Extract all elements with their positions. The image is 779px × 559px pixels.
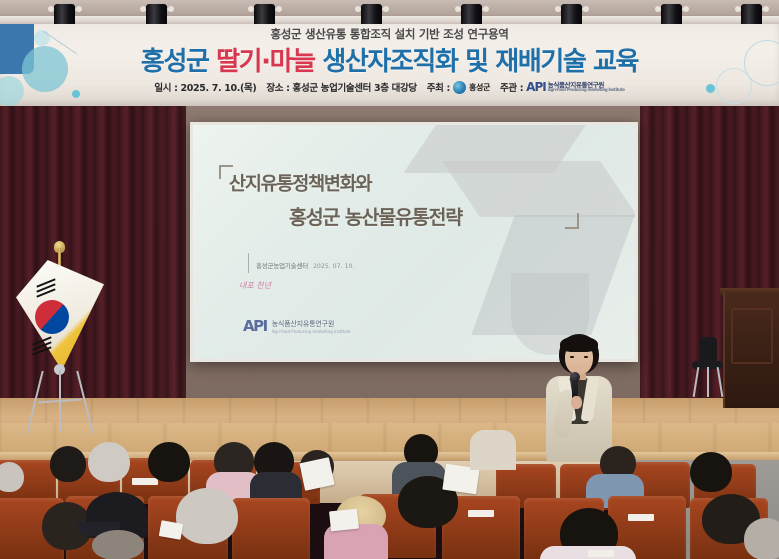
tripod-leg [76,371,93,434]
slide-api-mark: API [243,317,267,335]
slide-org-text: 홍성군농업기술센터 2025. 07. 10. [256,251,355,276]
flag-gold-fringe [16,260,104,370]
presenter-hand [571,396,582,409]
handout-paper [299,457,334,491]
audience-head [690,452,732,492]
audience-head [50,446,86,482]
seat-number-tag [628,514,654,521]
slide-title-line1: 산지유통정책변화와 [229,170,371,196]
banner-host-name: 홍성군 [469,82,490,93]
audience-head [0,462,24,492]
presentation-slide: 산지유통정책변화와 홍성군 농산물유통전략 내포 천년 홍성군농업기술센터 20… [193,125,635,359]
presenter-eye [570,356,574,358]
slide-org-block: 내포 천년 홍성군농업기술센터 2025. 07. 10. [241,251,355,276]
stage-chair [692,337,724,399]
audience-area [0,436,779,559]
slide-org-date: 2025. 07. 10. [313,263,354,270]
piano-front-panel [731,308,773,364]
slide-api-en: Agri-food Producing marketing Institute [272,329,351,334]
slide-chevron-shape [442,161,635,217]
slide-api-text: 농식품산지유통연구원 Agri-food Producing marketing… [272,319,351,334]
event-banner: 홍성군 생산유통 통합조직 설치 기반 조성 연구용역 홍성군 딸기·마늘 생산… [0,24,779,106]
api-logo-mark: API [526,80,546,94]
banner-info-row: 일시 : 2025. 7. 10.(목) 장소 : 홍성군 농업기술센터 3층 … [0,80,779,94]
conference-photo-scene: 홍성군 생산유통 통합조직 설치 기반 조성 연구용역 홍성군 딸기·마늘 생산… [0,0,779,559]
api-logo-en: Agri-food Producing marketing Institute [548,88,625,92]
presenter-hair-fringe [560,336,598,352]
api-logo-text: 농식품산지유통연구원 Agri-food Producing marketing… [548,82,625,93]
seat-number-tag [132,478,158,485]
slide-org-divider [248,253,249,273]
banner-title-part1: 홍성군 [141,47,216,77]
api-logo-icon: API 농식품산지유통연구원 Agri-food Producing marke… [526,80,624,94]
banner-title: 홍성군 딸기·마늘 생산자조직화 및 재배기술 교육 [0,41,779,78]
banner-host: 주최 : 홍성군 [427,80,490,94]
banner-host-label: 주최 : [427,80,450,94]
chair-leg [717,367,724,397]
presenter-eye [584,356,588,358]
audience-head [176,488,238,544]
banner-title-part2: 생산자조직화 및 재배기술 교육 [315,47,638,77]
hongseong-logo-icon [453,81,466,94]
chair-leg [707,367,709,397]
chair-leg [693,367,700,397]
chair-backrest [700,337,717,363]
slide-title-line2: 홍성군 농산물유통전략 [289,201,462,230]
slide-emblem-script: 내포 천년 [239,280,271,291]
banner-organizer: 주관 : API 농식품산지유통연구원 Agri-food Producing … [500,80,625,94]
microphone-head-icon [570,372,580,382]
handout-paper [329,509,359,532]
seat-number-tag [468,510,494,517]
seat-number-tag [588,550,614,557]
banner-date: 일시 : 2025. 7. 10.(목) [154,80,256,94]
slide-org-name: 홍성군농업기술센터 [256,262,308,270]
banner-place: 장소 : 홍성군 농업기술센터 3층 대강당 [266,80,416,94]
banner-subtitle-top: 홍성군 생산유통 통합조직 설치 기반 조성 연구용역 [0,26,779,42]
slide-footer-logo: API 농식품산지유통연구원 Agri-food Producing marke… [243,317,351,335]
audience-head [92,530,144,559]
audience-head [744,518,779,559]
projection-screen: 산지유통정책변화와 홍성군 농산물유통전략 내포 천년 홍성군농업기술센터 20… [190,122,638,362]
slide-bracket-close [565,213,579,229]
standing-attendee [470,430,516,470]
auditorium-seat [232,498,310,559]
slide-api-kr: 농식품산지유통연구원 [272,319,351,329]
audience-head [148,442,190,482]
banner-title-highlight: 딸기·마늘 [216,47,315,77]
korean-flag-stand [10,248,114,438]
audience-head [88,442,130,482]
banner-organizer-label: 주관 : [500,80,523,94]
